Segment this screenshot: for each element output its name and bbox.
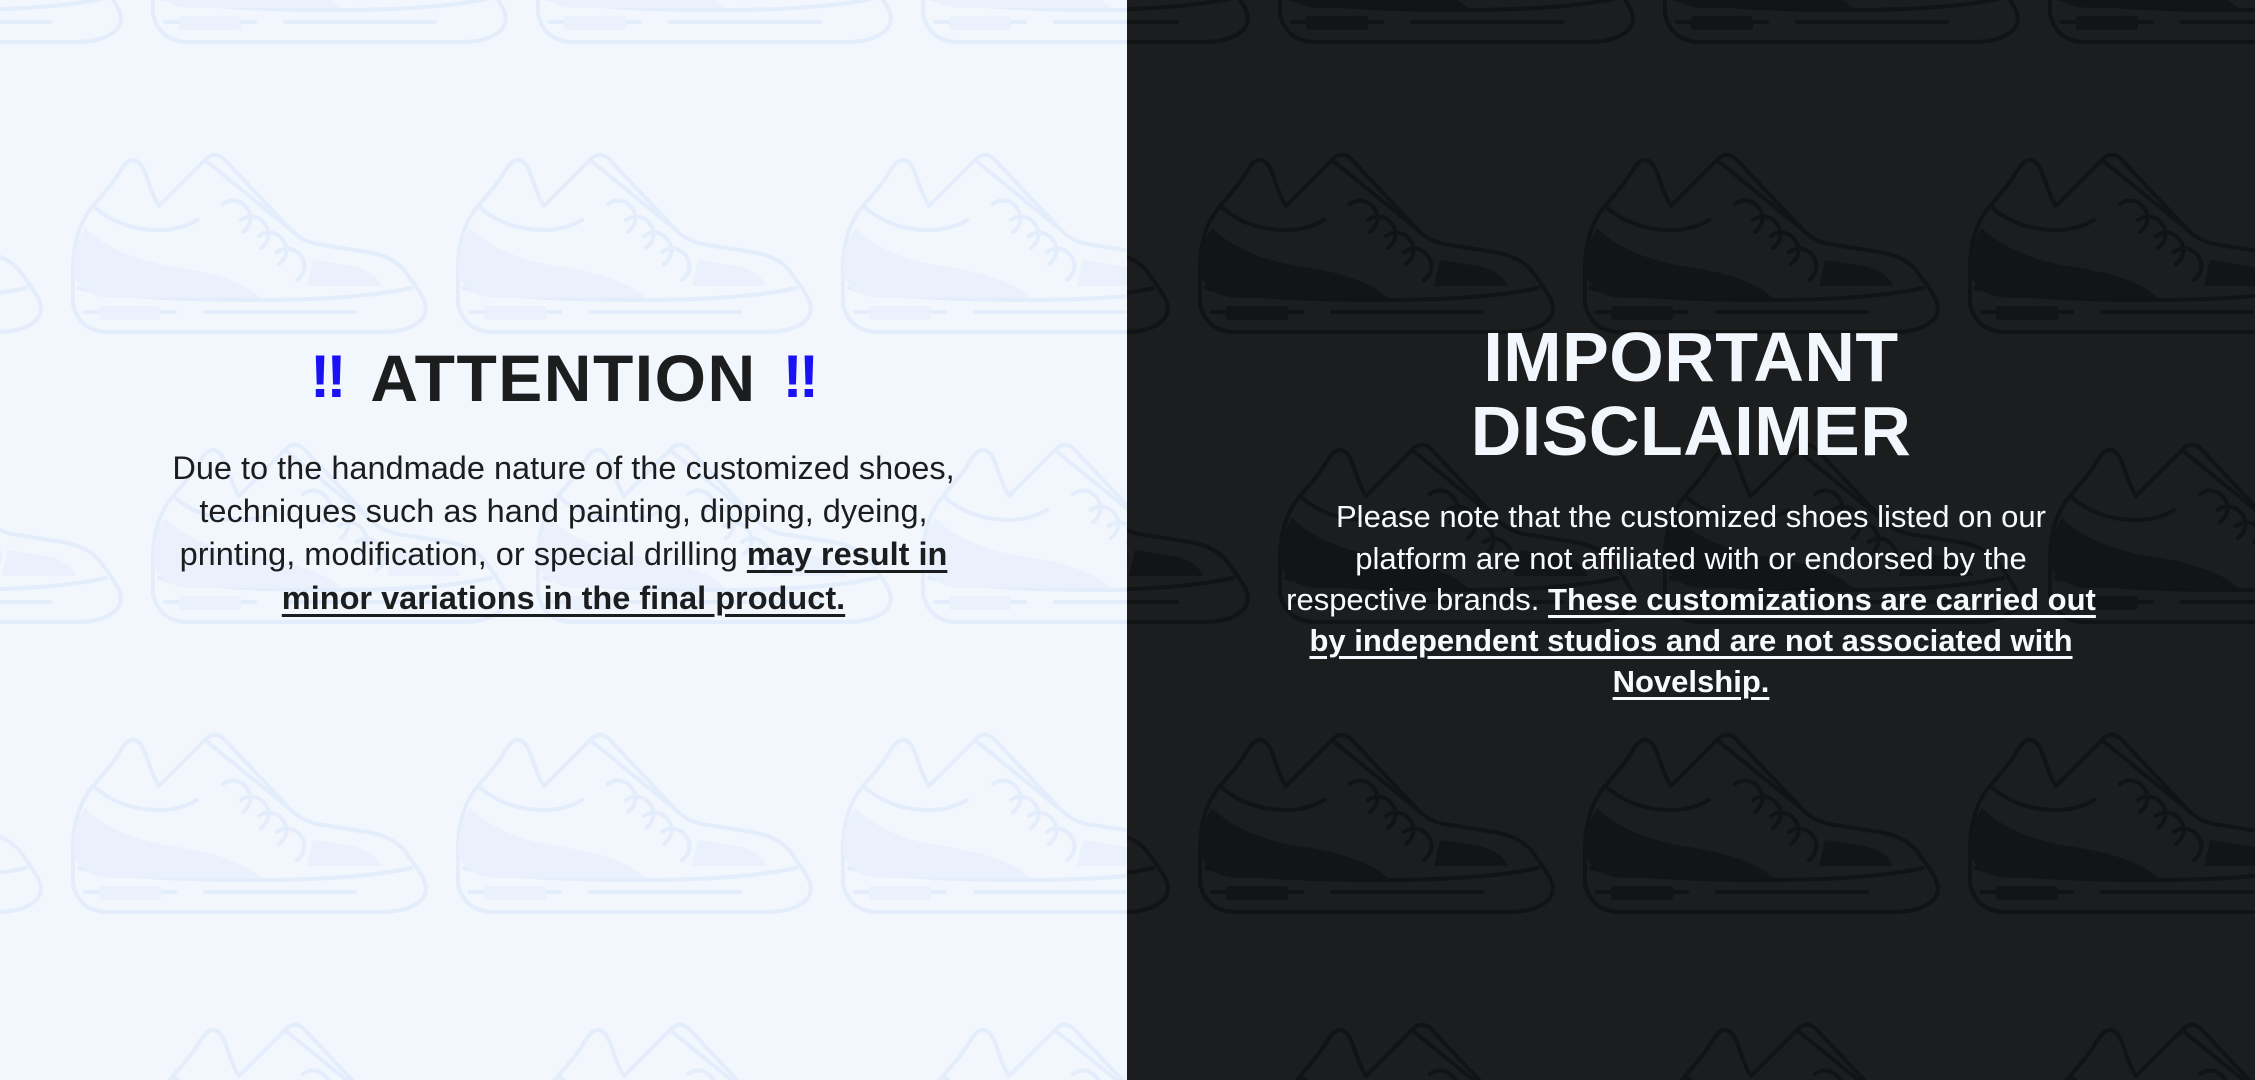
disclaimer-heading: IMPORTANT DISCLAIMER <box>1241 320 2141 468</box>
disclaimer-heading-line1: IMPORTANT <box>1483 318 1898 396</box>
attention-body: Due to the handmade nature of the custom… <box>164 447 964 620</box>
double-exclamation-icon-left: ‼ <box>310 347 344 407</box>
disclaimer-body: Please note that the customized shoes li… <box>1286 496 2096 702</box>
double-exclamation-icon-right: ‼ <box>783 347 817 407</box>
disclaimer-panel: IMPORTANT DISCLAIMER Please note that th… <box>1127 0 2255 1080</box>
promo-banner: ‼ ATTENTION ‼ Due to the handmade nature… <box>0 0 2255 1080</box>
attention-panel: ‼ ATTENTION ‼ Due to the handmade nature… <box>0 0 1127 1080</box>
attention-heading: ‼ ATTENTION ‼ <box>310 345 817 411</box>
attention-heading-text: ATTENTION <box>370 345 756 411</box>
disclaimer-heading-line2: DISCLAIMER <box>1471 392 1912 470</box>
